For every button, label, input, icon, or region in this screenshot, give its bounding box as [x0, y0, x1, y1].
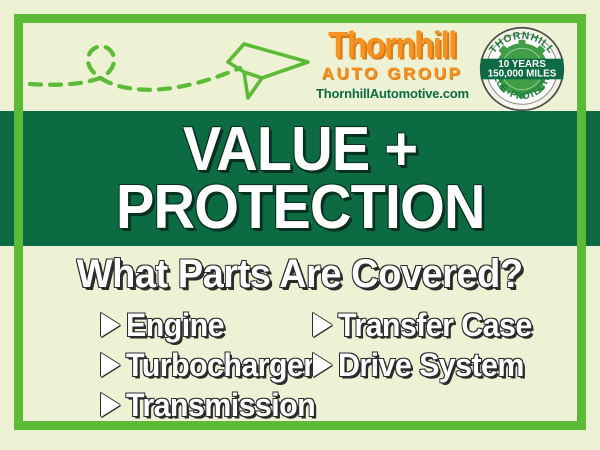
- headline-line-1: VALUE +: [183, 121, 417, 179]
- part-label: Drive System: [338, 347, 524, 384]
- thornhill-logo: Thornhill AUTO GROUP ThornhillAutomotive…: [316, 26, 468, 102]
- subtitle-row: What Parts Are Covered?: [0, 252, 600, 297]
- headline-text-group: VALUE + PROTECTION: [0, 111, 600, 246]
- dashed-flight-path-icon: [22, 22, 322, 108]
- subtitle-text: What Parts Are Covered?: [77, 252, 523, 297]
- triangle-bullet-icon: [313, 313, 332, 337]
- logo-wordmark: Thornhill: [316, 26, 468, 63]
- part-label: Transfer Case: [338, 307, 532, 344]
- list-item: Transmission: [101, 386, 293, 424]
- triangle-bullet-icon: [101, 353, 120, 377]
- list-item: Transfer Case: [313, 306, 557, 344]
- covered-parts-list: Engine Turbocharger Transmission Transfe…: [0, 306, 600, 424]
- part-label: Turbocharger: [126, 347, 315, 384]
- list-item: Engine: [101, 306, 293, 344]
- part-label: Transmission: [126, 387, 315, 424]
- logo-subtitle: AUTO GROUP: [316, 65, 468, 82]
- seal-miles-label: 150,000 MILES: [488, 68, 557, 79]
- list-item: Turbocharger: [101, 346, 293, 384]
- triangle-bullet-icon: [313, 353, 332, 377]
- logo-website-url: ThornhillAutomotive.com: [316, 86, 468, 101]
- parts-column-left: Engine Turbocharger Transmission: [43, 306, 293, 424]
- part-label: Engine: [126, 307, 224, 344]
- warranty-seal-badge: POWERTRAIN THORNHILL WARRANTY VALUE+PROT…: [479, 26, 565, 112]
- list-item: Drive System: [313, 346, 557, 384]
- parts-column-right: Transfer Case Drive System: [307, 306, 557, 424]
- triangle-bullet-icon: [101, 313, 120, 337]
- triangle-bullet-icon: [101, 393, 120, 417]
- headline-line-2: PROTECTION: [116, 179, 485, 237]
- value-protection-ad: Thornhill AUTO GROUP ThornhillAutomotive…: [0, 0, 600, 450]
